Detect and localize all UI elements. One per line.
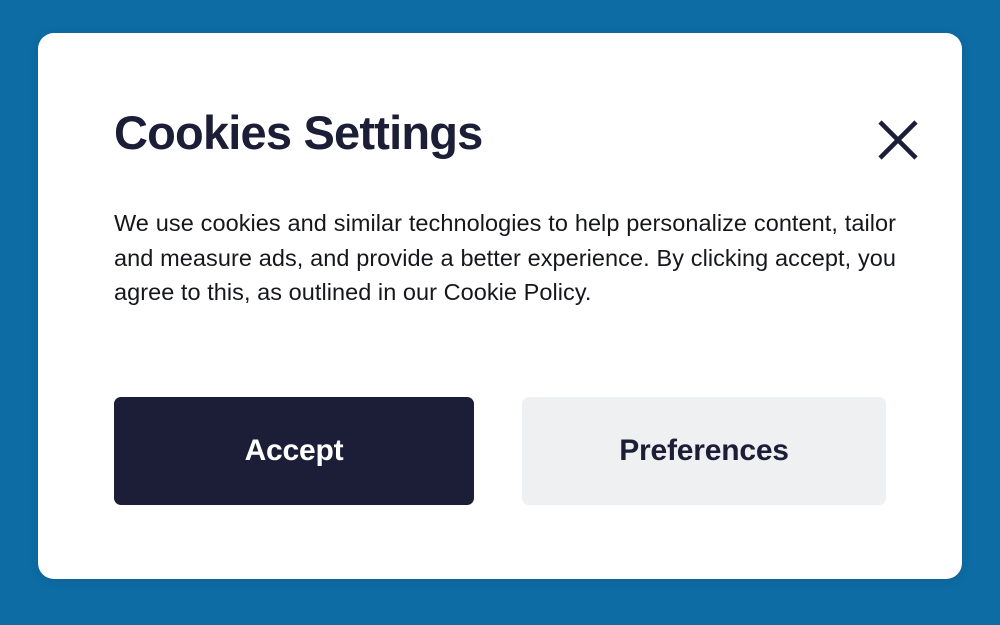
page-backdrop: Cookies Settings We use cookies and simi… [0,0,1000,625]
close-button[interactable] [870,112,926,168]
dialog-body: We use cookies and similar technologies … [114,206,896,310]
dialog-content: Cookies Settings We use cookies and simi… [38,33,962,579]
accept-button[interactable]: Accept [114,397,474,505]
cookies-settings-dialog: Cookies Settings We use cookies and simi… [38,33,962,579]
dialog-actions: Accept Preferences [114,397,886,505]
close-x-icon [878,120,918,160]
preferences-button[interactable]: Preferences [522,397,886,505]
consent-description: We use cookies and similar technologies … [114,206,896,310]
dialog-header: Cookies Settings [114,103,926,167]
page-title: Cookies Settings [114,103,483,163]
